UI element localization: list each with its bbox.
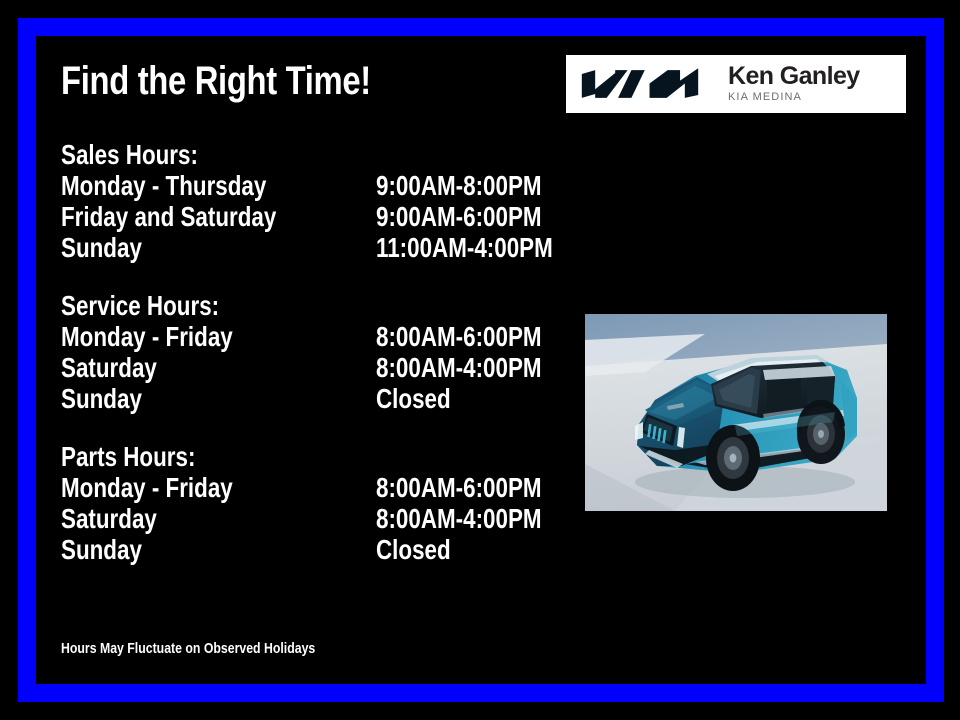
hours-row-time: 8:00AM-4:00PM — [376, 503, 542, 534]
hours-section-sales: Sales Hours: Monday - Thursday 9:00AM-8:… — [61, 139, 531, 263]
hours-row-time: 8:00AM-6:00PM — [376, 321, 542, 352]
hours-row-day: Saturday — [61, 503, 157, 534]
dealer-name: Ken Ganley — [728, 64, 860, 89]
hours-row: Friday and Saturday 9:00AM-6:00PM — [61, 201, 531, 232]
dealer-logo-lockup: Ken Ganley KIA MEDINA — [566, 55, 906, 113]
hours-row-time: 9:00AM-8:00PM — [376, 170, 542, 201]
hours-row-day: Saturday — [61, 352, 157, 383]
hours-row-time: Closed — [376, 534, 451, 565]
dealer-subtitle: KIA MEDINA — [728, 90, 860, 104]
hours-row: Monday - Friday 8:00AM-6:00PM — [61, 472, 531, 503]
hours-list: Sales Hours: Monday - Thursday 9:00AM-8:… — [61, 139, 531, 592]
hours-section-service: Service Hours: Monday - Friday 8:00AM-6:… — [61, 290, 531, 414]
dealer-name-block: Ken Ganley KIA MEDINA — [728, 64, 860, 104]
hours-row-day: Monday - Thursday — [61, 170, 266, 201]
slide-canvas: Find the Right Time! Sales Hours: Monday… — [0, 0, 960, 720]
section-heading: Service Hours: — [61, 290, 437, 321]
hours-row-day: Sunday — [61, 383, 142, 414]
hours-row-day: Sunday — [61, 534, 142, 565]
hours-row-day: Monday - Friday — [61, 472, 233, 503]
hours-row: Sunday 11:00AM-4:00PM — [61, 232, 531, 263]
hours-row: Sunday Closed — [61, 383, 531, 414]
hours-row: Monday - Friday 8:00AM-6:00PM — [61, 321, 531, 352]
hours-row-day: Sunday — [61, 232, 142, 263]
hours-row-time: 8:00AM-6:00PM — [376, 472, 542, 503]
section-heading: Parts Hours: — [61, 441, 437, 472]
vehicle-photo — [585, 314, 887, 511]
page-title: Find the Right Time! — [61, 60, 371, 102]
hours-section-parts: Parts Hours: Monday - Friday 8:00AM-6:00… — [61, 441, 531, 565]
hours-row-time: 11:00AM-4:00PM — [376, 232, 553, 263]
hours-row-time: 9:00AM-6:00PM — [376, 201, 542, 232]
holiday-disclaimer: Hours May Fluctuate on Observed Holidays — [61, 640, 315, 657]
hours-row: Sunday Closed — [61, 534, 531, 565]
hours-row-time: Closed — [376, 383, 451, 414]
hours-row-time: 8:00AM-4:00PM — [376, 352, 542, 383]
hours-row-day: Friday and Saturday — [61, 201, 276, 232]
hours-row: Monday - Thursday 9:00AM-8:00PM — [61, 170, 531, 201]
hours-row: Saturday 8:00AM-4:00PM — [61, 503, 531, 534]
section-heading: Sales Hours: — [61, 139, 437, 170]
hours-row: Saturday 8:00AM-4:00PM — [61, 352, 531, 383]
kia-logo-mark — [578, 67, 702, 101]
hours-row-day: Monday - Friday — [61, 321, 233, 352]
